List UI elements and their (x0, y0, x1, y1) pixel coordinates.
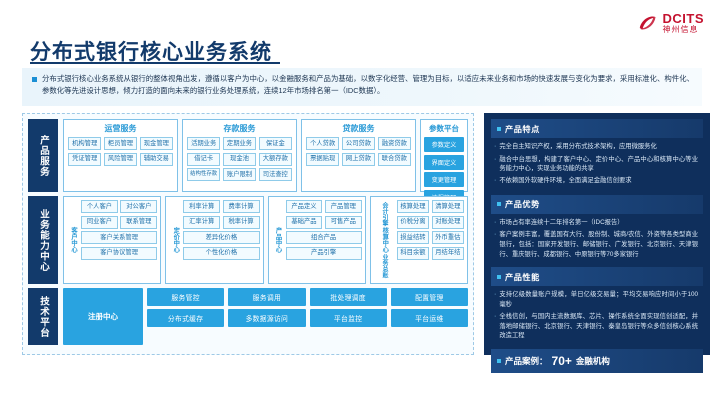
bullet-dot-icon: · (494, 218, 496, 229)
section-product-features: 产品特点 ·完全自主知识产权，采用分布式技术架构，应用微服务化 ·融合中台思想，… (491, 119, 703, 191)
section-product-advantages: 产品优势 ·市场占有率连续十二年排名第一（IDC报告） ·客户案例丰富，覆盖国有… (491, 195, 703, 264)
bullet-dot-icon: · (494, 230, 496, 259)
service-cell[interactable]: 辅助交易 (140, 153, 173, 166)
capability-cell[interactable]: 费率计算 (223, 200, 260, 213)
parameter-platform-panel: 参数平台 参数定义 界面定义 变更管理 流程管理 参数发布 参数对比 (420, 119, 468, 192)
section-title: 产品优势 (505, 198, 540, 210)
product-case-bar: 产品案例： 70+ 金融机构 (491, 349, 703, 373)
list-item-text: 完全自主知识产权，采用分布式技术架构，应用微服务化 (499, 142, 656, 153)
tech-column: 配置管理 平台运维 (391, 288, 468, 345)
capability-cell[interactable]: 对公客户 (120, 200, 157, 213)
sidebar-tab-capability-center[interactable]: 业务能力中心 (28, 196, 58, 284)
section-header: 产品性能 (491, 267, 703, 286)
logo-mark-icon (637, 12, 659, 34)
section-title: 产品特点 (505, 123, 540, 135)
brand-logo: DCITS 神州信息 (637, 12, 705, 34)
tech-button[interactable]: 批处理调度 (310, 288, 387, 306)
parameter-platform-title: 参数平台 (424, 123, 464, 134)
list-item: ·市场占有率连续十二年排名第一（IDC报告） (494, 218, 698, 229)
list-item-text: 融合中台思想，构建了客户中心、定价中心、产品中心和核算中心等业务能力中心，实现业… (499, 155, 698, 175)
capability-label: 定价中心 (169, 200, 180, 280)
param-button[interactable]: 参数定义 (424, 137, 464, 152)
capability-cell[interactable]: 汇率计算 (183, 216, 220, 229)
bullet-square-icon (32, 77, 37, 82)
bullet-square-icon (497, 127, 501, 131)
section-title: 产品性能 (505, 271, 540, 283)
bullet-square-icon (497, 275, 501, 279)
capability-cell-wide[interactable]: 组合产品 (286, 231, 362, 244)
product-info-panel: 产品特点 ·完全自主知识产权，采用分布式技术架构，应用微服务化 ·融合中台思想，… (484, 113, 710, 355)
tech-button[interactable]: 多数据源访问 (228, 309, 305, 327)
service-cell[interactable]: 凭证管理 (68, 153, 101, 166)
service-cell[interactable]: 机构管理 (68, 137, 101, 150)
service-cell[interactable]: 司法查控 (259, 168, 292, 181)
capability-group-accounting: 会计引擎 核算中心 业务总账 核算处理 清算处理 价税分离 对账处理 损益结转 (370, 196, 468, 284)
list-item-text: 全栈信创，与国内主流数据库、芯片、操作系统全面实现信创适配，并落地邮储银行、北京… (499, 312, 698, 341)
service-cell[interactable]: 风险管理 (104, 153, 137, 166)
service-group-title: 运营服务 (68, 123, 173, 134)
capability-cell[interactable]: 利率计算 (183, 200, 220, 213)
service-cell[interactable]: 结构性存款 (187, 168, 220, 181)
sidebar-tab-product-service[interactable]: 产品服务 (28, 119, 58, 192)
service-cell[interactable]: 定期业务 (223, 137, 256, 150)
service-cell[interactable]: 大额存款 (259, 153, 292, 166)
bullet-square-icon (497, 359, 501, 363)
capability-center-band: 业务能力中心 客户中心 个人客户 对公客户 同业客户 联系管理 客户关系管理 客… (28, 196, 468, 284)
tech-button[interactable]: 服务管控 (147, 288, 224, 306)
list-item-text: 不依赖国外软硬件环境，全面满足金融信创要求 (499, 176, 631, 187)
bullet-dot-icon: · (494, 155, 496, 175)
capability-cell[interactable]: 科目余额 (397, 247, 429, 260)
tech-button[interactable]: 分布式缓存 (147, 309, 224, 327)
service-cell[interactable]: 活期业务 (187, 137, 220, 150)
list-item-text: 支持亿级数量账户规模，单日亿级交易量；平均交易响应时间小于100毫秒 (499, 290, 698, 310)
tech-button[interactable]: 配置管理 (391, 288, 468, 306)
service-cell[interactable]: 柜员管理 (104, 137, 137, 150)
intro-text: 分布式银行核心业务系统从银行的整体视角出发，遵循以客户为中心，以金融服务和产品为… (42, 73, 694, 97)
service-cell[interactable]: 借记卡 (187, 153, 220, 166)
bullet-dot-icon: · (494, 176, 496, 187)
tech-column: 服务管控 分布式缓存 (147, 288, 224, 345)
capability-cell[interactable]: 产品管理 (325, 200, 362, 213)
service-cell[interactable]: 票据贴现 (306, 153, 339, 166)
logo-text-cn: 神州信息 (663, 26, 705, 34)
capability-label: 产品中心 (272, 200, 283, 280)
capability-cell[interactable]: 联系管理 (120, 216, 157, 229)
list-item: ·完全自主知识产权，采用分布式技术架构，应用微服务化 (494, 142, 698, 153)
list-item: ·全栈信创，与国内主流数据库、芯片、操作系统全面实现信创适配，并落地邮储银行、北… (494, 312, 698, 341)
capability-cell[interactable]: 清算处理 (432, 200, 464, 213)
tech-button[interactable]: 服务调用 (228, 288, 305, 306)
capability-cell[interactable]: 损益结转 (397, 231, 429, 244)
title-underline (30, 62, 280, 64)
service-cell[interactable]: 个人贷款 (306, 137, 339, 150)
section-header: 产品特点 (491, 119, 703, 138)
capability-cell-wide[interactable]: 差异化价格 (183, 231, 259, 244)
product-service-band: 产品服务 运营服务 机构管理 柜员管理 现金管理 凭证管理 风险管理 辅助交易 … (28, 119, 468, 192)
bullet-dot-icon: · (494, 290, 496, 310)
service-group-loan: 贷款服务 个人贷款 公司贷款 融资贷款 票据贴现 网上贷款 联合贷款 (301, 119, 416, 192)
list-item: ·客户案例丰富，覆盖国有大行、股份制、城商/农信、外资等各类型商业银行，包括：国… (494, 230, 698, 259)
accounting-sub-label-engine: 会计引擎 (380, 202, 387, 226)
tech-button[interactable]: 平台运维 (391, 309, 468, 327)
service-cell[interactable]: 账户限制 (223, 168, 256, 181)
service-cell[interactable]: 公司贷款 (342, 137, 375, 150)
capability-cell[interactable]: 个人客户 (81, 200, 118, 213)
tech-button[interactable]: 平台监控 (310, 309, 387, 327)
service-group-operations: 运营服务 机构管理 柜员管理 现金管理 凭证管理 风险管理 辅助交易 (63, 119, 178, 192)
capability-cell-wide[interactable]: 产品引擎 (286, 247, 362, 260)
tech-register-center[interactable]: 注册中心 (63, 288, 143, 345)
section-header: 产品优势 (491, 195, 703, 214)
list-item-text: 市场占有率连续十二年排名第一（IDC报告） (499, 218, 623, 229)
capability-label-group: 会计引擎 核算中心 业务总账 (374, 200, 394, 280)
service-cell[interactable]: 现金管理 (140, 137, 173, 150)
capability-group-pricing: 定价中心 利率计算 费率计算 汇率计算 税率计算 差异化价格 个性化价格 (165, 196, 263, 284)
logo-text-en: DCITS (663, 12, 705, 25)
tech-platform-band: 技术平台 注册中心 服务管控 分布式缓存 服务调用 多数据源访问 批处理调度 平… (28, 288, 468, 345)
architecture-diagram: 产品服务 运营服务 机构管理 柜员管理 现金管理 凭证管理 风险管理 辅助交易 … (22, 113, 474, 355)
section-product-performance: 产品性能 ·支持亿级数量账户规模，单日亿级交易量；平均交易响应时间小于100毫秒… (491, 267, 703, 345)
service-cell[interactable]: 现金池 (223, 153, 256, 166)
capability-group-customer: 客户中心 个人客户 对公客户 同业客户 联系管理 客户关系管理 客户协议管理 (63, 196, 161, 284)
list-item: ·支持亿级数量账户规模，单日亿级交易量；平均交易响应时间小于100毫秒 (494, 290, 698, 310)
service-group-title: 存款服务 (187, 123, 292, 134)
sidebar-tab-tech-platform[interactable]: 技术平台 (28, 288, 58, 345)
capability-cell-wide[interactable]: 客户关系管理 (81, 231, 157, 244)
bullet-square-icon (497, 202, 501, 206)
capability-cell-wide[interactable]: 客户协议管理 (81, 247, 157, 260)
capability-cell[interactable]: 月结年结 (432, 247, 464, 260)
service-cell[interactable]: 网上贷款 (342, 153, 375, 166)
capability-cell[interactable]: 税率计算 (223, 216, 260, 229)
tech-column: 服务调用 多数据源访问 (228, 288, 305, 345)
capability-label: 客户中心 (67, 200, 78, 280)
service-cell[interactable]: 融资贷款 (378, 137, 411, 150)
param-button[interactable]: 变更管理 (424, 172, 464, 187)
case-suffix: 金融机构 (576, 355, 610, 367)
capability-cell[interactable]: 核算处理 (397, 200, 429, 213)
capability-cell[interactable]: 外币重估 (432, 231, 464, 244)
list-item-text: 客户案例丰富，覆盖国有大行、股份制、城商/农信、外资等各类型商业银行，包括：国家… (499, 230, 698, 259)
capability-cell[interactable]: 基础产品 (286, 216, 323, 229)
case-number: 70+ (552, 354, 572, 368)
capability-cell[interactable]: 对账处理 (432, 216, 464, 229)
bullet-dot-icon: · (494, 312, 496, 341)
capability-cell[interactable]: 价税分离 (397, 216, 429, 229)
list-item: ·不依赖国外软硬件环境，全面满足金融信创要求 (494, 176, 698, 187)
param-button[interactable]: 界面定义 (424, 155, 464, 170)
intro-banner: 分布式银行核心业务系统从银行的整体视角出发，遵循以客户为中心，以金融服务和产品为… (22, 68, 702, 106)
case-label: 产品案例： (505, 355, 548, 367)
capability-cell[interactable]: 同业客户 (81, 216, 118, 229)
tech-column: 批处理调度 平台监控 (310, 288, 387, 345)
capability-group-product: 产品中心 产品定义 产品管理 基础产品 可售产品 组合产品 产品引擎 (268, 196, 366, 284)
list-item: ·融合中台思想，构建了客户中心、定价中心、产品中心和核算中心等业务能力中心，实现… (494, 155, 698, 175)
accounting-sub-label-ledger: 业务总账 (380, 254, 387, 278)
service-cell[interactable]: 保证金 (259, 137, 292, 150)
capability-cell[interactable]: 产品定义 (286, 200, 323, 213)
service-group-title: 贷款服务 (306, 123, 411, 134)
bullet-dot-icon: · (494, 142, 496, 153)
service-group-deposit: 存款服务 活期业务 定期业务 保证金 借记卡 现金池 大额存款 结构性存款 账户… (182, 119, 297, 192)
service-cell[interactable]: 联合贷款 (378, 153, 411, 166)
capability-label: 核算中心 (380, 227, 387, 252)
capability-cell-wide[interactable]: 个性化价格 (183, 247, 259, 260)
capability-cell[interactable]: 可售产品 (325, 216, 362, 229)
